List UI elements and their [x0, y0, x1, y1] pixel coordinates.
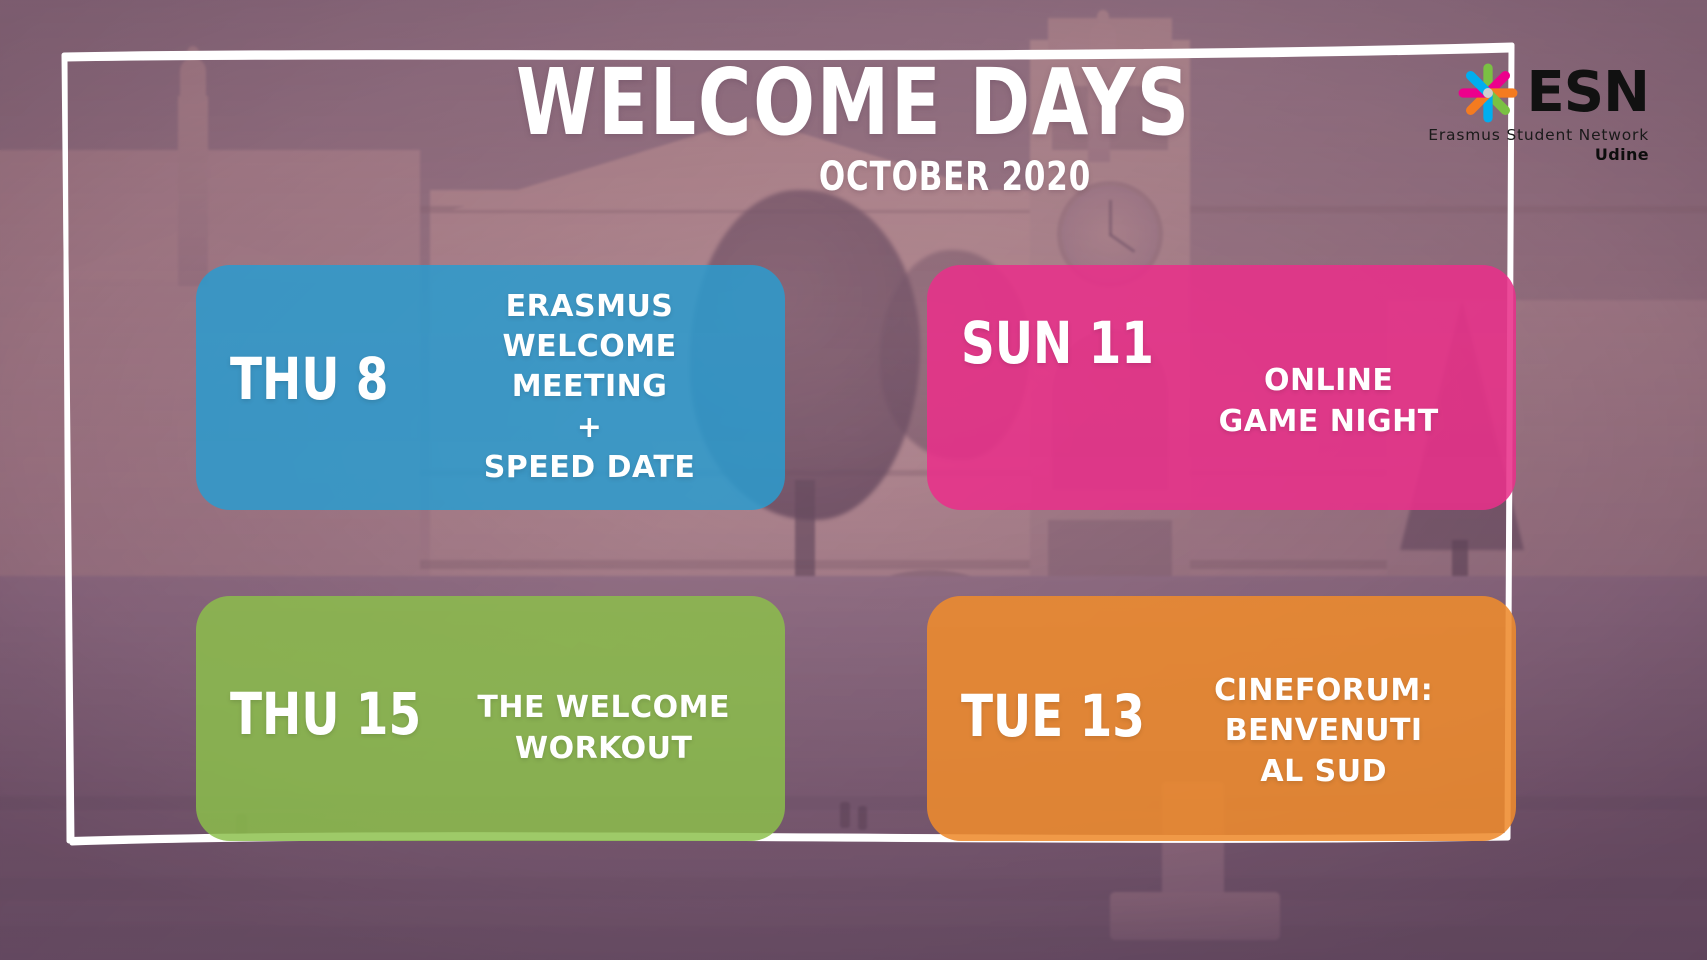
welcome-days-poster: WELCOME DAYS OCTOBER 2020	[0, 0, 1707, 960]
event-name-label: THE WELCOME WORKOUT	[456, 688, 751, 768]
esn-tagline: Erasmus Student Network	[1428, 126, 1649, 144]
event-card-grid: THU 8 ERASMUS WELCOME MEETING + SPEED DA…	[196, 265, 1516, 841]
event-day-label: THU 15	[230, 680, 421, 748]
esn-logo-row: ESN	[1457, 62, 1649, 124]
esn-logo: ESN Erasmus Student Network Udine	[1428, 62, 1649, 164]
page-title: WELCOME DAYS	[102, 58, 1604, 148]
event-name-label: ERASMUS WELCOME MEETING + SPEED DATE	[428, 287, 751, 488]
esn-starburst-icon	[1457, 62, 1519, 124]
event-card-thu-8[interactable]: THU 8 ERASMUS WELCOME MEETING + SPEED DA…	[196, 265, 785, 510]
event-name-label: ONLINE GAME NIGHT	[1175, 361, 1482, 441]
event-card-thu-15[interactable]: THU 15 THE WELCOME WORKOUT	[196, 596, 785, 841]
event-day-label: SUN 11	[961, 309, 1154, 377]
esn-wordmark: ESN	[1527, 65, 1649, 121]
event-card-sun-11[interactable]: SUN 11 ONLINE GAME NIGHT	[927, 265, 1516, 510]
esn-section-name: Udine	[1595, 145, 1649, 164]
event-name-label: CINEFORUM: BENVENUTI AL SUD	[1165, 671, 1482, 792]
event-day-label: TUE 13	[961, 682, 1145, 750]
event-day-label: THU 8	[230, 345, 388, 413]
event-card-tue-13[interactable]: TUE 13 CINEFORUM: BENVENUTI AL SUD	[927, 596, 1516, 841]
